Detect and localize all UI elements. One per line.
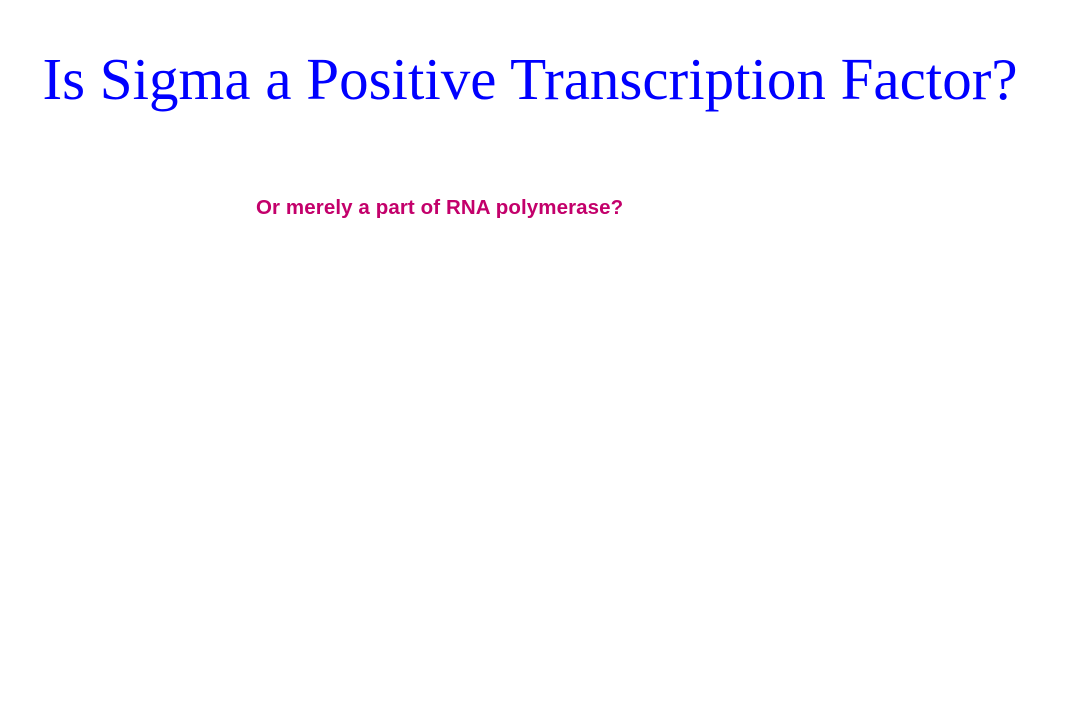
slide-subtitle: Or merely a part of RNA polymerase? <box>256 198 623 219</box>
page-title: Is Sigma a Positive Transcription Factor… <box>0 50 1060 109</box>
slide-body-area <box>0 250 1080 720</box>
slide-canvas: Is Sigma a Positive Transcription Factor… <box>0 0 1080 720</box>
